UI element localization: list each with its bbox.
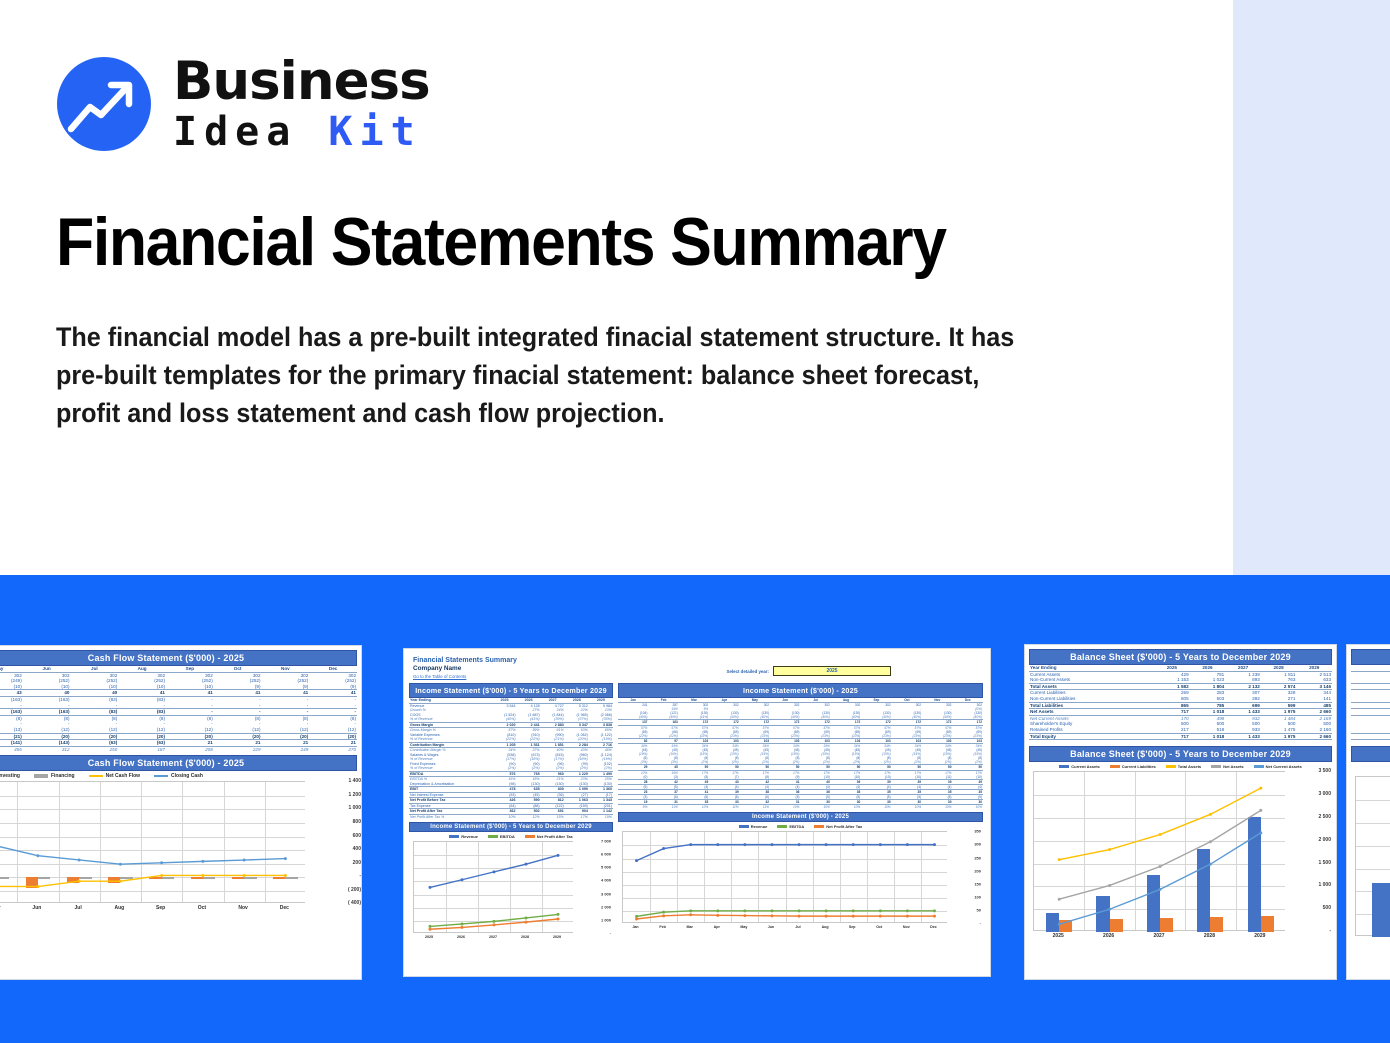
table-row: (21)(20)(20)(20)(20)(20)(20)(20) — [0, 733, 357, 740]
legend-swatch — [488, 835, 498, 838]
y-axis-tick: 1 000 — [1318, 882, 1331, 888]
y-axis-tick: 150 — [974, 881, 981, 886]
table-cell: 12% — [679, 805, 709, 810]
row-label: Total Liabilities — [1029, 702, 1154, 709]
legend-swatch — [154, 775, 168, 777]
table-cell: 1 297 — [1351, 683, 1390, 690]
y-axis-tick: 1 000 — [601, 917, 611, 922]
table-cell: 2 660 — [1296, 709, 1332, 716]
balance-sheet-table: Year Ending20252026202720282029Current A… — [1029, 665, 1332, 740]
x-axis-tick: Jul — [784, 925, 811, 929]
row-label: Total Assets — [1029, 683, 1154, 690]
y-axis-tick: 2 000 — [601, 904, 611, 909]
legend-item: Total Assets — [1166, 764, 1201, 769]
table-cell: (83) — [71, 709, 119, 716]
table-cell: 19% — [589, 814, 613, 819]
legend-swatch — [89, 775, 103, 777]
legend-swatch — [525, 835, 535, 838]
legend-label: Net Assets — [1223, 764, 1244, 769]
legend-label: Revenue — [751, 824, 768, 829]
table-cell: 40 — [23, 690, 71, 697]
table-cell: 270 — [309, 746, 357, 752]
table-cell: 10% — [861, 805, 891, 810]
legend-label: Revenue — [461, 834, 478, 839]
table-cell: 10% — [770, 805, 800, 810]
legend-swatch — [1254, 765, 1264, 768]
legend-swatch — [1211, 765, 1221, 768]
table-cell: 41 — [118, 690, 166, 697]
table-cell: 1 582 — [1154, 683, 1190, 690]
y-axis-tick: 350 — [974, 829, 981, 834]
y-axis-tick: 7 000 — [601, 839, 611, 844]
y-axis-tick: 3 000 — [1318, 791, 1331, 797]
x-axis-tick: May — [0, 905, 16, 911]
y-axis-tick: - — [359, 873, 361, 879]
x-axis-tick: Dec — [264, 905, 305, 911]
y-axis-tick: 5 000 — [601, 865, 611, 870]
y-axis-tick: 3 000 — [601, 891, 611, 896]
table-cell: (21) — [0, 733, 23, 740]
table-cell: 21 — [262, 740, 310, 747]
x-axis-tick: Feb — [649, 925, 676, 929]
table-cell: 15% — [541, 814, 565, 819]
legend-item: Net Profit After Tax — [814, 824, 862, 829]
cashflow-chart-title: Cash Flow Statement ($'000) - 2025 — [0, 755, 357, 771]
table-cell: 40 — [71, 690, 119, 697]
y-axis-tick: - — [1329, 928, 1331, 934]
x-axis-tick: 2025 — [1033, 933, 1083, 939]
y-axis-tick: ( 400) — [348, 900, 361, 906]
table-cell: 865 — [1154, 702, 1190, 709]
y-axis-tick: 1 400 — [348, 778, 361, 784]
legend-item: EBITDA — [488, 834, 515, 839]
y-axis-tick: 800 — [353, 819, 361, 825]
table-cell: (63) — [118, 740, 166, 747]
y-axis-tick: 1 500 — [1318, 860, 1331, 866]
page-description: The financial model has a pre-built inte… — [56, 318, 1035, 432]
table-row: 1 297 — [1351, 683, 1390, 690]
balance-chart-title: Balance Sheet ($'000) - 5 Years to Decem… — [1029, 746, 1332, 762]
table-cell: 786 — [1351, 702, 1390, 709]
income-monthly-chart-title: Income Statement ($'000) - 2025 — [618, 812, 983, 822]
x-axis-tick: Oct — [866, 925, 893, 929]
table-cell: 785 — [1190, 702, 1226, 709]
sliver-table: Jan1 1741241 297936927865121 08150012512 — [1351, 665, 1390, 740]
legend-item: Net Assets — [1211, 764, 1244, 769]
table-cell: 717 — [1154, 733, 1190, 740]
brand-kit-text: Kit — [328, 109, 421, 155]
balance-chart-legend: Current AssetsCurrent LiabilitiesTotal A… — [1029, 762, 1332, 771]
table-cell: 17% — [565, 814, 589, 819]
table-row: Contribution Margin %34%37%40%43%46% — [409, 748, 613, 753]
x-axis-tick: Nov — [893, 925, 920, 929]
legend-swatch — [34, 774, 48, 778]
y-axis-tick: 1 000 — [348, 805, 361, 811]
legend-label: Net Profit After Tax — [537, 834, 573, 839]
table-cell: 599 — [1261, 702, 1297, 709]
table-cell: 41 — [262, 690, 310, 697]
legend-label: Closing Cash — [171, 773, 203, 779]
x-axis-tick: 2026 — [445, 935, 477, 939]
y-axis-tick: 3 500 — [1318, 768, 1331, 774]
y-axis-tick: 600 — [353, 833, 361, 839]
legend-item: Investing — [0, 773, 20, 779]
legend-swatch — [814, 825, 824, 828]
screenshot-balance-sheet[interactable]: Balance Sheet ($'000) - 5 Years to Decem… — [1024, 644, 1337, 980]
table-cell: 1 018 — [1190, 709, 1226, 716]
table-cell: 249 — [262, 746, 310, 752]
table-of-contents-link[interactable]: Go to the Table of Contents — [413, 674, 983, 679]
table-cell: 1 018 — [1190, 733, 1226, 740]
income-company-name: Company Name — [413, 665, 983, 672]
table-cell: (63) — [71, 740, 119, 747]
year-picker-value[interactable]: 2025 — [773, 666, 891, 676]
screenshot-income-statement[interactable]: Financial Statements Summary Company Nam… — [403, 648, 991, 977]
table-row: Total Assets1 5821 8042 1322 5743 146 — [1029, 683, 1332, 690]
x-axis-tick: Jul — [58, 905, 99, 911]
table-cell: 10% — [492, 814, 516, 819]
table-row: Contribution Margin1 2051 5311 8512 2842… — [409, 742, 613, 748]
table-cell: 1 433 — [1225, 733, 1261, 740]
x-axis-tick: Jan — [1355, 938, 1390, 944]
legend-swatch — [739, 825, 749, 828]
row-label: Total Equity — [1029, 733, 1154, 740]
brand-idea-text: Idea — [173, 109, 328, 155]
table-row: 456312250187208229249270 — [0, 746, 357, 752]
legend-swatch — [1059, 765, 1069, 768]
legend-label: Net Cash Flow — [106, 773, 140, 779]
table-row: 512 — [1351, 733, 1390, 740]
table-cell: 21 — [214, 740, 262, 747]
table-cell: 10% — [952, 805, 983, 810]
x-axis-tick: Mar — [676, 925, 703, 929]
x-axis-tick: 2028 — [509, 935, 541, 939]
table-row: 4340404141414141 — [0, 690, 357, 697]
cashflow-table-title: Cash Flow Statement ($'000) - 2025 — [0, 650, 357, 666]
income-monthly-title: Income Statement ($'000) - 2025 — [618, 683, 983, 698]
x-axis-tick: Sep — [140, 905, 181, 911]
screenshot-balance-sheet-monthly[interactable]: Jan1 1741241 297936927865121 08150012512… — [1346, 644, 1390, 980]
legend-item: Current Liabilities — [1110, 764, 1156, 769]
x-axis-tick: 2029 — [1235, 933, 1285, 939]
table-cell: 229 — [214, 746, 262, 752]
legend-label: EBITDA — [789, 824, 804, 829]
legend-label: EBITDA — [500, 834, 515, 839]
x-axis-tick: Sep — [839, 925, 866, 929]
table-cell: (20) — [71, 733, 119, 740]
table-cell: 12% — [517, 814, 541, 819]
table-cell: 8% — [618, 805, 648, 810]
x-axis-tick: Dec — [920, 925, 947, 929]
legend-swatch — [1166, 765, 1176, 768]
x-axis-tick: May — [730, 925, 757, 929]
x-axis-tick: Aug — [99, 905, 140, 911]
table-cell: (20) — [166, 733, 214, 740]
x-axis-tick: Jan — [622, 925, 649, 929]
table-cell: - — [262, 709, 310, 716]
brand-logo: Business Idea Kit — [57, 55, 430, 152]
brand-name-line1: Business — [173, 55, 430, 108]
table-cell: (83) — [118, 709, 166, 716]
legend-item: Current Assets — [1059, 764, 1100, 769]
table-cell: 10% — [892, 805, 922, 810]
x-axis-tick: Aug — [812, 925, 839, 929]
x-axis-tick: 2029 — [541, 935, 573, 939]
legend-item: EBITDA — [777, 824, 804, 829]
table-cell: (20) — [214, 733, 262, 740]
legend-item: Closing Cash — [154, 773, 203, 779]
legend-label: Total Assets — [1178, 764, 1201, 769]
table-row: Total Liabilities865785699599485 — [1029, 702, 1332, 709]
legend-label: Current Assets — [1071, 764, 1100, 769]
legend-swatch — [449, 835, 459, 838]
legend-item: Net Cash Flow — [89, 773, 140, 779]
x-axis-tick: 2025 — [413, 935, 445, 939]
table-cell: - — [309, 709, 357, 716]
row-label: Net Assets — [1029, 709, 1154, 716]
table-cell: 717 — [1154, 709, 1190, 716]
income-5y-chart-title: Income Statement ($'000) - 5 Years to De… — [409, 822, 613, 832]
table-cell: 1 975 — [1261, 709, 1297, 716]
table-row: Net Interest Expense(53)(45)(36)(27)(17) — [409, 792, 613, 798]
screenshot-cash-flow[interactable]: Cash Flow Statement ($'000) - 2025 MayJu… — [0, 645, 362, 980]
y-axis-tick: 2 500 — [1318, 814, 1331, 820]
table-cell: (143) — [23, 740, 71, 747]
legend-item: Financing — [34, 773, 75, 779]
table-cell: 699 — [1225, 702, 1261, 709]
table-cell: - — [214, 709, 262, 716]
table-cell: 512 — [1351, 733, 1390, 740]
table-row: Net Profit After Tax3625026919041 142 — [409, 809, 613, 815]
y-axis-tick: 200 — [974, 868, 981, 873]
legend-label: Investing — [0, 773, 20, 779]
x-axis-tick: 2027 — [477, 935, 509, 939]
legend-item: Revenue — [739, 824, 768, 829]
table-cell: - — [166, 709, 214, 716]
growth-arrow-chart-icon — [57, 57, 151, 151]
y-axis-tick: 100 — [974, 894, 981, 899]
table-cell: 41 — [309, 690, 357, 697]
table-row: 8%11%12%11%11%10%10%10%10%10%10%10% — [618, 805, 983, 810]
table-cell: 187 — [118, 746, 166, 752]
table-cell: 10% — [800, 805, 830, 810]
income-doc-title: Financial Statements Summary — [413, 657, 983, 664]
y-axis-tick: 2 000 — [1318, 837, 1331, 843]
y-axis-tick: 4 000 — [601, 878, 611, 883]
y-axis-tick: - — [980, 921, 981, 926]
income-5y-chart-legend: RevenueEBITDANet Profit After Tax — [409, 832, 613, 841]
legend-item: Net Current Assets — [1254, 764, 1302, 769]
table-cell: 21 — [166, 740, 214, 747]
table-row: (141)(143)(63)(63)21212121 — [0, 740, 357, 747]
table-cell: 2 132 — [1225, 683, 1261, 690]
cashflow-table: MayJunJulAugSepOctNovDec3023023023023023… — [0, 666, 357, 752]
sliver-table-title — [1351, 649, 1390, 665]
y-axis-tick: ( 200) — [348, 887, 361, 893]
table-cell: (163) — [0, 709, 23, 716]
y-axis-tick: 250 — [974, 855, 981, 860]
table-cell: (141) — [0, 740, 23, 747]
legend-label: Current Liabilities — [1122, 764, 1156, 769]
legend-label: Net Current Assets — [1266, 764, 1302, 769]
brand-name-line2: Idea Kit — [173, 112, 430, 152]
income-monthly-table: JanFebMarAprMayJunJulAugSepOctNovDec2412… — [618, 698, 983, 809]
table-cell: 2 660 — [1296, 733, 1332, 740]
legend-label: Net Profit After Tax — [826, 824, 862, 829]
table-row: Net Profit After Tax %10%12%15%17%19% — [409, 814, 613, 819]
table-cell: 11% — [740, 805, 770, 810]
cashflow-chart-legend: InvestingFinancingNet Cash FlowClosing C… — [0, 771, 357, 781]
table-row: 512 — [1351, 709, 1390, 716]
income-5y-table: Year Ending20252026202720282029Revenue3 … — [409, 698, 613, 819]
y-axis-tick: 200 — [353, 860, 361, 866]
balance-table-title: Balance Sheet ($'000) - 5 Years to Decem… — [1029, 649, 1332, 665]
table-cell: 250 — [71, 746, 119, 752]
table-cell: 2 574 — [1261, 683, 1297, 690]
legend-swatch — [777, 825, 787, 828]
table-cell: 512 — [1351, 709, 1390, 716]
y-axis-tick: 500 — [1323, 905, 1331, 911]
y-axis-tick: 400 — [353, 846, 361, 852]
y-axis-tick: 50 — [977, 908, 981, 913]
x-axis-tick: Jun — [16, 905, 57, 911]
x-axis-tick: 2027 — [1134, 933, 1184, 939]
table-cell: 10% — [831, 805, 861, 810]
table-cell: 312 — [23, 746, 71, 752]
x-axis-tick: Oct — [181, 905, 222, 911]
legend-label: Financing — [51, 773, 75, 779]
table-cell: 456 — [0, 746, 23, 752]
table-cell: 43 — [0, 690, 23, 697]
legend-swatch — [1110, 765, 1120, 768]
table-cell: (20) — [118, 733, 166, 740]
table-cell: 1 433 — [1225, 709, 1261, 716]
sliver-chart-title — [1351, 746, 1390, 762]
table-row: Net Profit Before Tax4265908121 0631 343 — [409, 798, 613, 804]
table-cell: 3 146 — [1296, 683, 1332, 690]
right-tint-panel — [1233, 0, 1390, 575]
table-cell: 485 — [1296, 702, 1332, 709]
table-row: Depreciation & Amortisation(98)(130)(130… — [409, 782, 613, 787]
table-cell: 41 — [166, 690, 214, 697]
year-picker-label: Select detailed year: — [727, 669, 769, 674]
table-row: (163)(163)(83)(83)---- — [0, 709, 357, 716]
sliver-chart-legend — [1351, 762, 1390, 776]
table-cell: 11% — [648, 805, 678, 810]
x-axis-tick: 2028 — [1184, 933, 1234, 939]
y-axis-tick: 300 — [974, 842, 981, 847]
x-axis-tick: Apr — [703, 925, 730, 929]
table-cell: 11% — [709, 805, 739, 810]
income-5y-title: Income Statement ($'000) - 5 Years to De… — [409, 683, 613, 698]
table-cell: 41 — [214, 690, 262, 697]
legend-item: Revenue — [449, 834, 478, 839]
x-axis-tick: Jun — [757, 925, 784, 929]
row-label: Net Profit After Tax % — [409, 814, 492, 819]
x-axis-tick: 2026 — [1083, 933, 1133, 939]
y-axis-tick: 1 200 — [348, 792, 361, 798]
table-cell: 1 975 — [1261, 733, 1297, 740]
table-cell: 21 — [309, 740, 357, 747]
table-cell: (163) — [23, 709, 71, 716]
table-row: Total Equity7171 0181 4331 9752 660 — [1029, 733, 1332, 740]
table-cell: 1 804 — [1190, 683, 1226, 690]
page-title: Financial Statements Summary — [56, 203, 1086, 281]
year-picker[interactable]: Select detailed year: 2025 — [727, 666, 891, 676]
income-monthly-chart-legend: RevenueEBITDANet Profit After Tax — [618, 822, 983, 831]
y-axis-tick: - — [610, 931, 611, 936]
y-axis-tick: 6 000 — [601, 852, 611, 857]
table-cell: (20) — [23, 733, 71, 740]
legend-item: Net Profit After Tax — [525, 834, 573, 839]
table-cell: 10% — [922, 805, 952, 810]
table-cell: (20) — [309, 733, 357, 740]
table-row: Net Assets7171 0181 4331 9752 660 — [1029, 709, 1332, 716]
table-cell: 208 — [166, 746, 214, 752]
x-axis-tick: Nov — [223, 905, 264, 911]
hero-section: Business Idea Kit Financial Statements S… — [0, 0, 1390, 575]
table-cell: (20) — [262, 733, 310, 740]
table-row: 786 — [1351, 702, 1390, 709]
